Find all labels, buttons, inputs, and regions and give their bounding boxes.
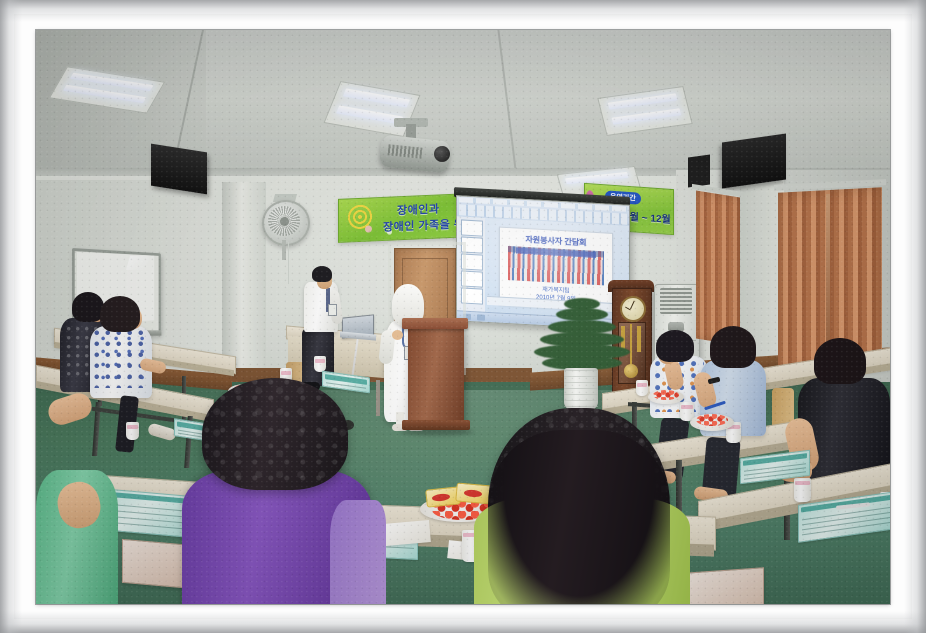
plant-pot-ribs: [564, 370, 598, 408]
attendee-right-3-hair: [814, 338, 866, 384]
norfolk-pine-plant: [534, 298, 630, 374]
paper-cup: [314, 356, 326, 372]
cup-print: [637, 383, 647, 387]
attendee-right-1-hair: [656, 330, 694, 362]
foreground-attendee-1-sleeve: [330, 500, 386, 604]
fluorescent-tube: [611, 108, 681, 125]
fan-stem: [282, 240, 286, 260]
operator-hair: [312, 266, 332, 282]
wall-speaker-left: [151, 144, 207, 195]
foreground-attendee-2-hair-overlay: [488, 430, 670, 604]
cup-print: [315, 359, 325, 363]
cherry-tomatoes: [696, 414, 728, 426]
banner-dot-graphic: [365, 225, 372, 232]
podium: [408, 327, 464, 425]
fluorescent-tube: [608, 93, 678, 110]
attendee-left-2-pattern: [94, 330, 148, 388]
wall-speaker-right-side: [688, 154, 710, 187]
cup-print: [281, 371, 291, 375]
podium-base: [402, 420, 470, 430]
photograph: 장애인과 장애인 가족을 위 운영기간 2010년 4월 ~ 12월: [36, 30, 890, 604]
fan-hub: [280, 217, 289, 226]
wall-pillar: [222, 182, 266, 382]
speaker-hand: [392, 330, 403, 340]
foreground-attendee-1-hair: [202, 378, 348, 490]
photo-frame: 장애인과 장애인 가족을 위 운영기간 2010년 4월 ~ 12월: [0, 0, 926, 633]
av-desk-leg: [376, 380, 380, 416]
fluorescent-tube: [565, 172, 629, 185]
ac-vent: [660, 288, 692, 314]
notebook: [684, 567, 764, 604]
paper-cup: [794, 478, 811, 502]
slide-thumbnail: [461, 219, 483, 236]
wall-speaker-right: [722, 134, 786, 189]
banner-left-line1: 장애인과: [397, 200, 439, 218]
operator-id-badge: [328, 304, 337, 316]
napkin: [383, 520, 431, 546]
cherry-tomatoes: [653, 390, 679, 400]
fluorescent-tube: [343, 88, 410, 107]
fan-pull-cord: [288, 242, 289, 284]
cup-print: [795, 481, 810, 485]
whiteboard-glare: [126, 256, 150, 270]
clock-pendulum-rod: [630, 324, 632, 368]
banner-left-line2: 장애인 가족을 위: [383, 215, 464, 235]
paper-cup: [126, 422, 139, 440]
clock-weight: [637, 326, 641, 352]
cup-print: [681, 405, 693, 409]
attendee-left-2-hair: [100, 296, 140, 332]
attendee-right-2-hair: [710, 326, 756, 368]
paper-cup: [636, 380, 648, 396]
cup-print: [127, 425, 138, 429]
window-curtain: [696, 191, 740, 346]
banner-left: 장애인과 장애인 가족을 위: [338, 193, 470, 243]
podium-top: [402, 318, 468, 329]
status-chip: [477, 314, 485, 320]
